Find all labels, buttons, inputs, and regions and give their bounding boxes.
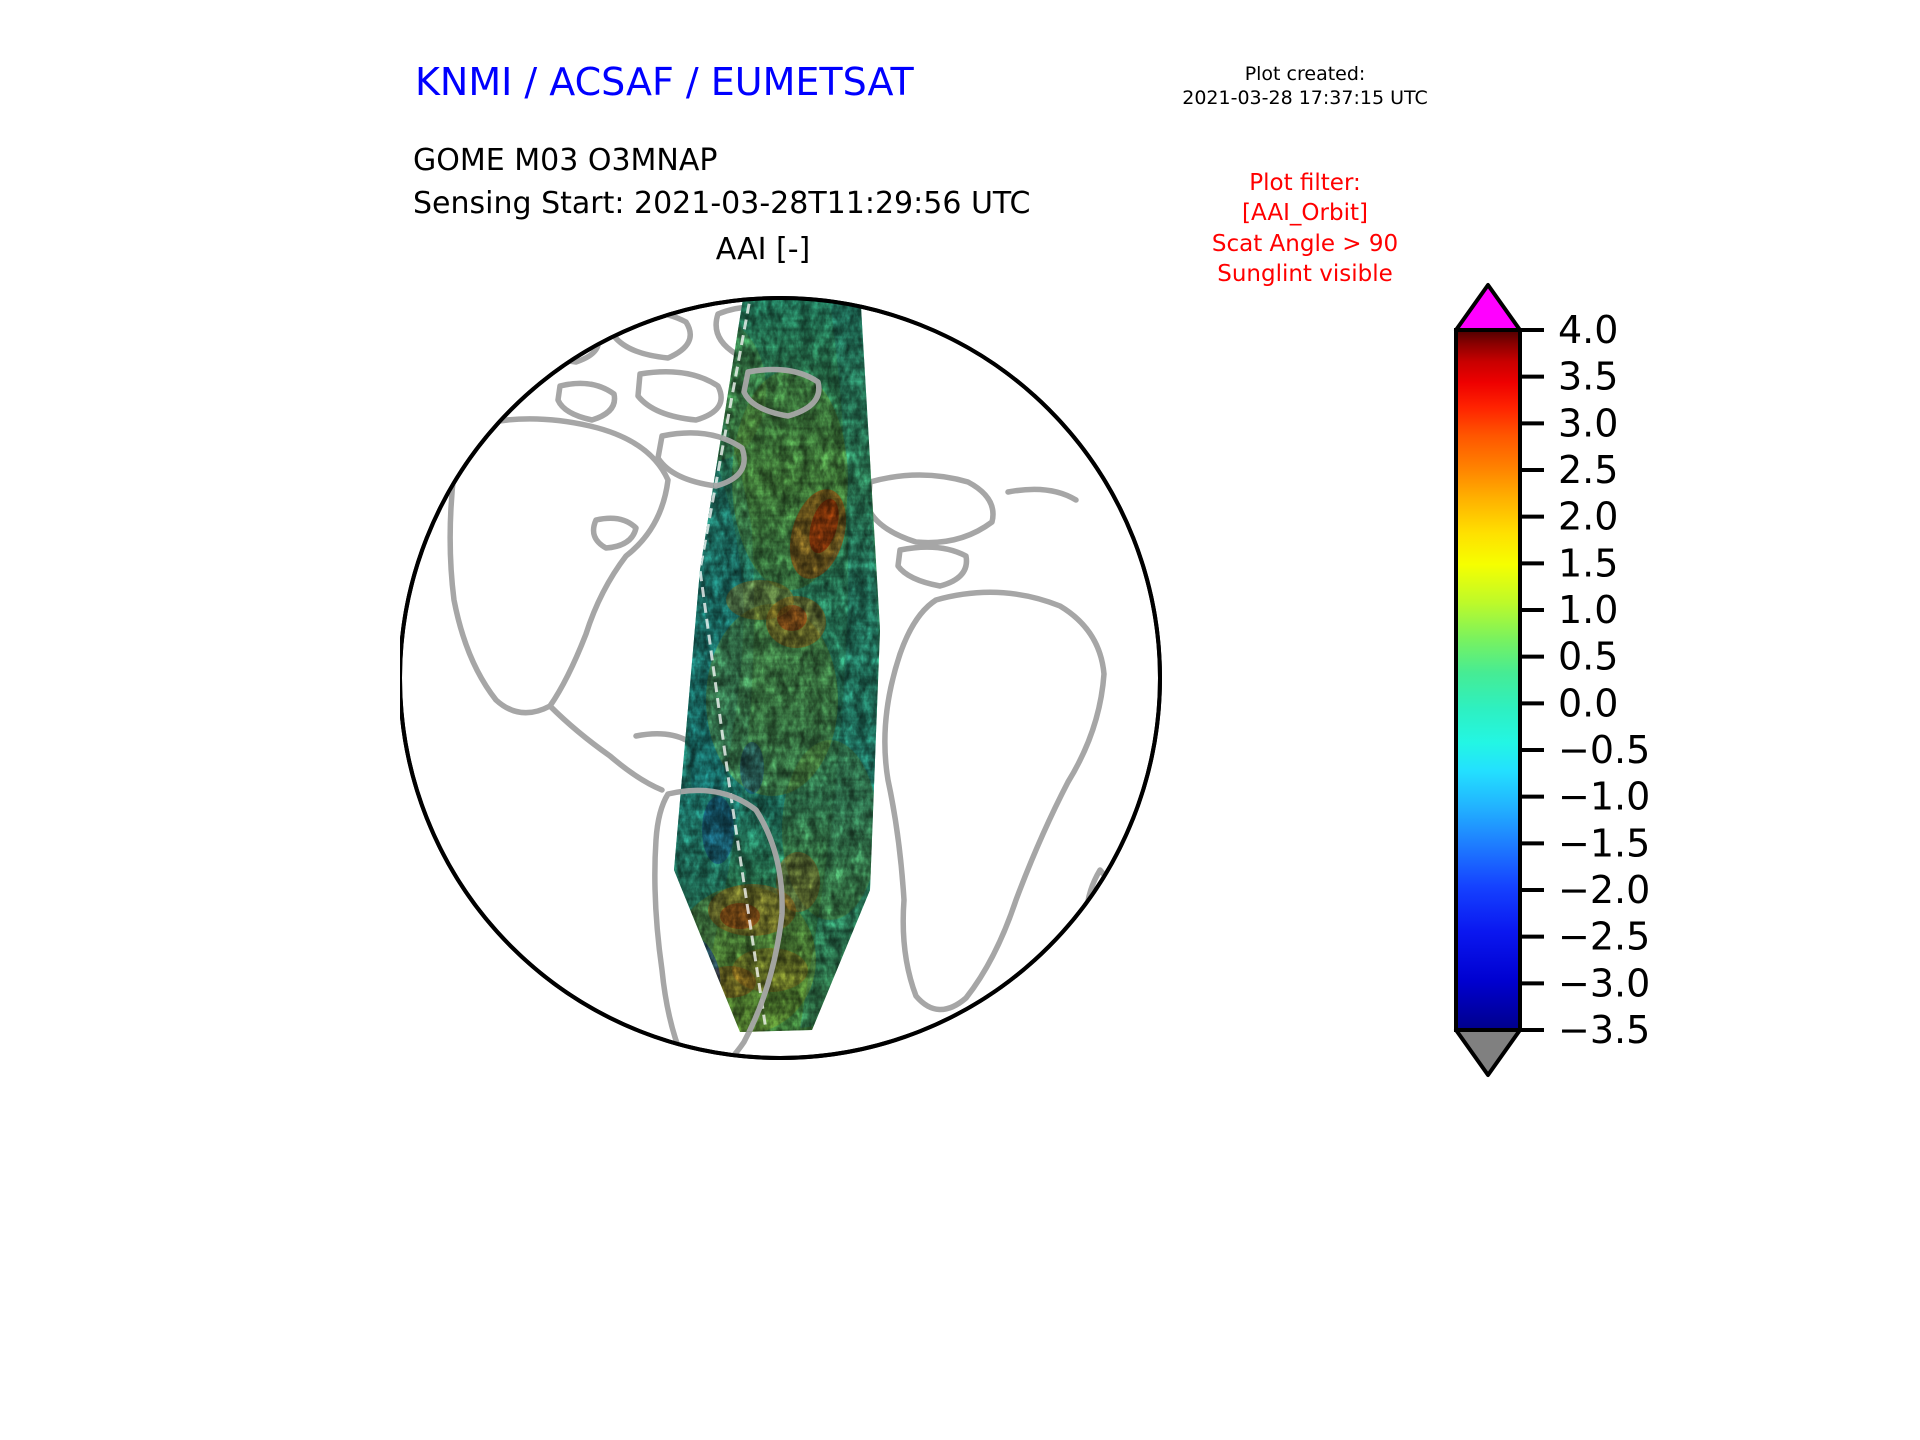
- plot-created-block: Plot created: 2021-03-28 17:37:15 UTC: [1160, 62, 1450, 111]
- colorbar-tick-label: −0.5: [1558, 728, 1650, 772]
- colorbar-tick-label: 1.5: [1558, 541, 1618, 585]
- product-info-block: GOME M03 O3MNAP Sensing Start: 2021-03-2…: [413, 140, 1030, 225]
- colorbar-over-arrow: [1456, 285, 1520, 330]
- colorbar-tick-label: 2.0: [1558, 495, 1618, 539]
- colorbar-tick-label: −2.0: [1558, 868, 1650, 912]
- colorbar-tick-label: 0.0: [1558, 681, 1618, 725]
- colorbar-tick-label: −2.5: [1558, 915, 1650, 959]
- colorbar-tick-label: 3.0: [1558, 401, 1618, 445]
- colorbar-tick-label: −3.0: [1558, 961, 1650, 1005]
- plot-created-value: 2021-03-28 17:37:15 UTC: [1160, 86, 1450, 110]
- map-panel: [400, 270, 1400, 1290]
- colorbar-tick-label: 2.5: [1558, 448, 1618, 492]
- colorbar-gradient: [1456, 330, 1520, 1030]
- organisation-title: KNMI / ACSAF / EUMETSAT: [415, 60, 914, 104]
- colorbar: 4.03.53.02.52.01.51.00.50.0−0.5−1.0−1.5−…: [1440, 280, 1860, 1300]
- product-name: GOME M03 O3MNAP: [413, 140, 1030, 183]
- colorbar-tick-label: 4.0: [1558, 308, 1618, 352]
- colorbar-under-arrow: [1456, 1030, 1520, 1075]
- colorbar-panel: 4.03.53.02.52.01.51.00.50.0−0.5−1.0−1.5−…: [1440, 280, 1860, 1300]
- plot-page: KNMI / ACSAF / EUMETSAT Plot created: 20…: [0, 0, 1920, 1440]
- colorbar-ticks: 4.03.53.02.52.01.51.00.50.0−0.5−1.0−1.5−…: [1520, 308, 1650, 1052]
- plot-created-label: Plot created:: [1160, 62, 1450, 86]
- plot-filter-line-1: Scat Angle > 90: [1155, 229, 1455, 259]
- variable-title: AAI [-]: [413, 232, 1113, 267]
- colorbar-tick-label: 0.5: [1558, 635, 1618, 679]
- colorbar-tick-label: 3.5: [1558, 355, 1618, 399]
- colorbar-tick-label: 1.0: [1558, 588, 1618, 632]
- colorbar-tick-label: −1.5: [1558, 821, 1650, 865]
- colorbar-tick-label: −1.0: [1558, 775, 1650, 819]
- plot-filter-line-0: [AAI_Orbit]: [1155, 198, 1455, 228]
- globe-plot: [400, 270, 1400, 1290]
- colorbar-tick-label: −3.5: [1558, 1008, 1650, 1052]
- sensing-start: Sensing Start: 2021-03-28T11:29:56 UTC: [413, 183, 1030, 226]
- plot-filter-title: Plot filter:: [1155, 168, 1455, 198]
